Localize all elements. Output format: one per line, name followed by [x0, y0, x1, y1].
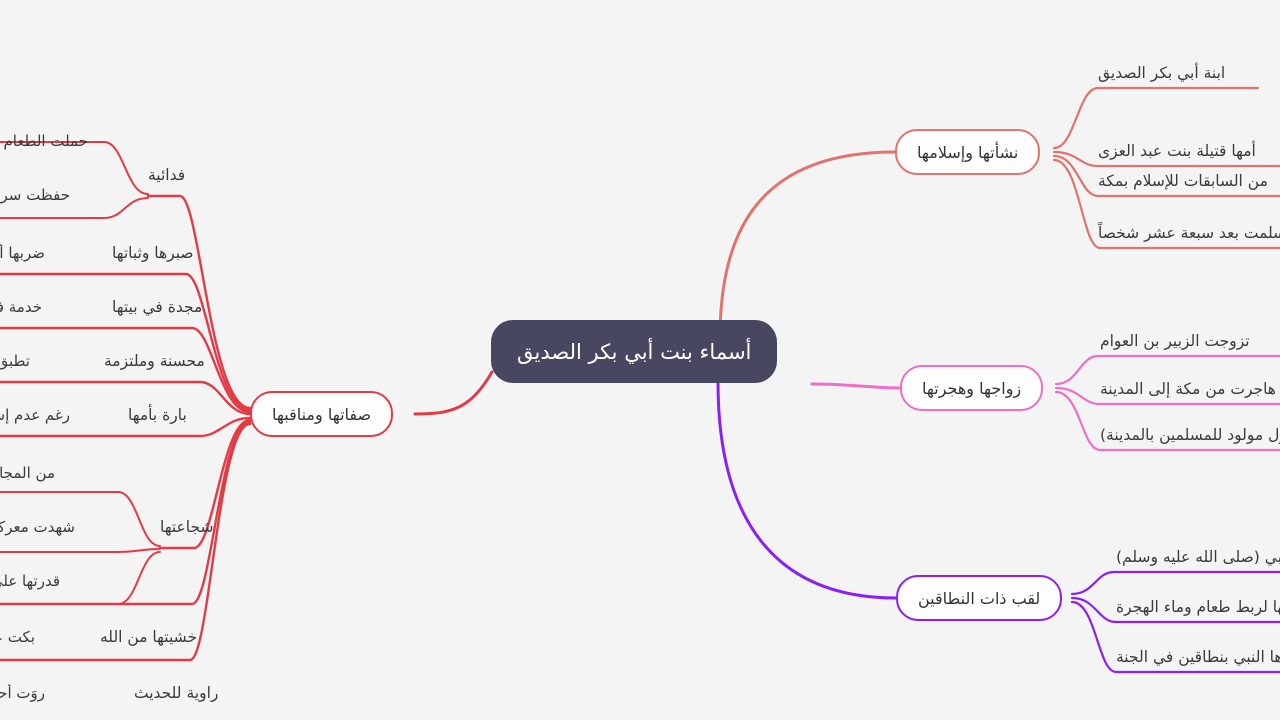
- link-sif-rawiya: [0, 424, 250, 660]
- branch-label-nashatuha: نشأتها وإسلامها: [917, 143, 1018, 162]
- sub-node-majida[interactable]: مجدة في بيتها: [112, 298, 202, 316]
- link-sif-majida: [0, 328, 250, 412]
- leaf-laqab-2[interactable]: شقت نطاقها لربط طعام وماء الهجرة: [1116, 598, 1280, 616]
- root-node[interactable]: أسماء بنت أبي بكر الصديق: [491, 320, 777, 383]
- sub-node-khashya[interactable]: خشيتها من الله: [100, 628, 197, 646]
- leaf-fidaiya-1[interactable]: حملت الطعام للنبي وأبيها في الغار: [0, 132, 88, 150]
- leaf-shajaa-1[interactable]: من المجاهدات في اليرموك: [0, 464, 55, 482]
- leaf-barra-1[interactable]: رغم عدم إسلام أمها وصلتها: [0, 406, 70, 424]
- branch-node-nashatuha[interactable]: نشأتها وإسلامها: [895, 129, 1040, 175]
- mindmap-canvas: أسماء بنت أبي بكر الصديق نشأتها وإسلامها…: [0, 0, 1280, 720]
- link-root-sifatuha: [415, 372, 492, 414]
- leaf-rawiya-1[interactable]: روَت أحاديث عن النبي: [0, 684, 45, 702]
- branch-node-zawajuha[interactable]: زواجها وهجرتها: [900, 365, 1043, 411]
- leaf-laqab-1[interactable]: لقبها النبي (صلى الله عليه وسلم): [1116, 548, 1280, 566]
- leaf-nashatuha-1[interactable]: ابنة أبي بكر الصديق: [1098, 64, 1225, 82]
- leaf-nashatuha-4[interactable]: أسلمت بعد سبعة عشر شخصاً: [1098, 224, 1280, 242]
- sub-node-muhsina[interactable]: محسنة وملتزمة: [104, 352, 205, 370]
- link-nash-1: [1054, 88, 1258, 148]
- leaf-zawajuha-1[interactable]: تزوجت الزبير بن العوام: [1100, 332, 1250, 350]
- leaf-nashatuha-2[interactable]: أمها قتيلة بنت عبد العزى: [1098, 142, 1256, 160]
- link-sif-sabr: [0, 274, 250, 410]
- link-root-nashatuha: [720, 152, 895, 338]
- sub-node-shajaa[interactable]: شجاعتها: [160, 518, 214, 536]
- branch-label-sifatuha: صفاتها ومناقبها: [272, 405, 371, 424]
- sub-node-fidaiya[interactable]: فدائية: [148, 166, 185, 184]
- leaf-khashya-1[interactable]: بكت عند ذكر النار: [0, 628, 35, 646]
- branch-label-zawajuha: زواجها وهجرتها: [922, 379, 1021, 398]
- root-label: أسماء بنت أبي بكر الصديق: [517, 340, 751, 364]
- leaf-majida-1[interactable]: خدمة فرس الزبير ونقل النوى: [0, 298, 42, 316]
- link-sha-2: [0, 549, 160, 552]
- leaf-nashatuha-3[interactable]: من السابقات للإسلام بمكة: [1098, 172, 1268, 190]
- sub-node-sabr[interactable]: صبرها وثباتها: [112, 244, 194, 262]
- branch-node-laqab[interactable]: لقب ذات النطاقين: [896, 575, 1062, 621]
- leaf-laqab-3[interactable]: بشرها النبي بنطاقين في الجنة: [1116, 648, 1280, 666]
- leaf-zawajuha-3[interactable]: ولدت عبد الله (أول مولود للمسلمين بالمدي…: [1100, 426, 1280, 444]
- link-laq-1: [1072, 572, 1280, 594]
- leaf-shajaa-3[interactable]: قدرتها على مواجهة الحجاج: [0, 572, 60, 590]
- branch-label-laqab: لقب ذات النطاقين: [918, 589, 1040, 608]
- leaf-muhsina-1[interactable]: تطبق أمر النبي بالصدقة: [0, 352, 30, 370]
- leaf-shajaa-2[interactable]: شهدت معركة اليرموك: [0, 518, 75, 536]
- leaf-zawajuha-2[interactable]: هاجرت من مكة إلى المدينة: [1100, 380, 1276, 398]
- leaf-fidaiya-2[interactable]: حفظت سر الهجرة: [0, 186, 70, 204]
- sub-node-rawiya[interactable]: راوية للحديث: [134, 684, 218, 702]
- link-root-laqab: [718, 382, 896, 598]
- branch-node-sifatuha[interactable]: صفاتها ومناقبها: [250, 391, 393, 437]
- sub-node-barra[interactable]: بارة بأمها: [128, 406, 187, 424]
- link-root-zawajuha: [812, 384, 900, 388]
- leaf-sabr-1[interactable]: ضربها أبو جهل فلم تخبره: [0, 244, 45, 262]
